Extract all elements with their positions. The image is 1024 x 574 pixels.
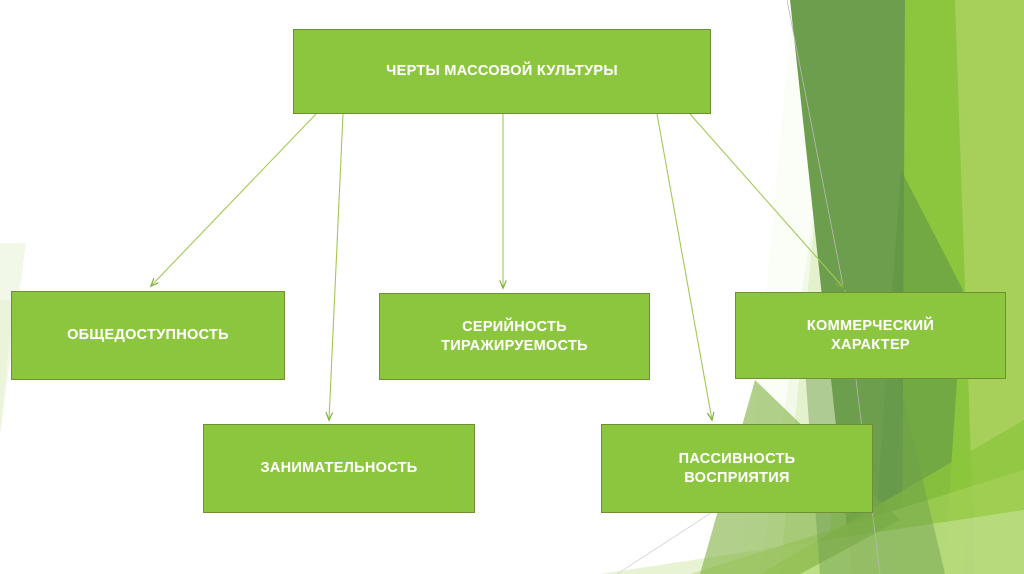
arrow-root-to-passive: [657, 114, 712, 420]
node-obshchedostupnost[interactable]: ОБЩЕДОСТУПНОСТЬ: [11, 291, 285, 380]
node-seriynost-tirazhiruemost-label: СЕРИЙНОСТЬ ТИРАЖИРУЕМОСТЬ: [433, 318, 596, 355]
arrow-root-to-entertain: [329, 114, 343, 420]
node-zanimatelnost[interactable]: ЗАНИМАТЕЛЬНОСТЬ: [203, 424, 475, 513]
node-obshchedostupnost-label: ОБЩЕДОСТУПНОСТЬ: [59, 326, 237, 345]
node-root[interactable]: ЧЕРТЫ МАССОВОЙ КУЛЬТУРЫ: [293, 29, 711, 114]
node-seriynost-tirazhiruemost[interactable]: СЕРИЙНОСТЬ ТИРАЖИРУЕМОСТЬ: [379, 293, 650, 380]
arrow-root-to-commerce: [690, 114, 843, 287]
node-kommercheskiy-kharakter[interactable]: КОММЕРЧЕСКИЙ ХАРАКТЕР: [735, 292, 1006, 379]
slide-canvas: ЧЕРТЫ МАССОВОЙ КУЛЬТУРЫ ОБЩЕДОСТУПНОСТЬ …: [0, 0, 1024, 574]
node-passivnost-vospriyatiya-label: ПАССИВНОСТЬ ВОСПРИЯТИЯ: [671, 450, 804, 487]
node-root-label: ЧЕРТЫ МАССОВОЙ КУЛЬТУРЫ: [378, 62, 626, 81]
node-passivnost-vospriyatiya[interactable]: ПАССИВНОСТЬ ВОСПРИЯТИЯ: [601, 424, 873, 513]
node-zanimatelnost-label: ЗАНИМАТЕЛЬНОСТЬ: [252, 459, 425, 478]
node-kommercheskiy-kharakter-label: КОММЕРЧЕСКИЙ ХАРАКТЕР: [799, 317, 942, 354]
arrow-root-to-access: [151, 114, 316, 286]
